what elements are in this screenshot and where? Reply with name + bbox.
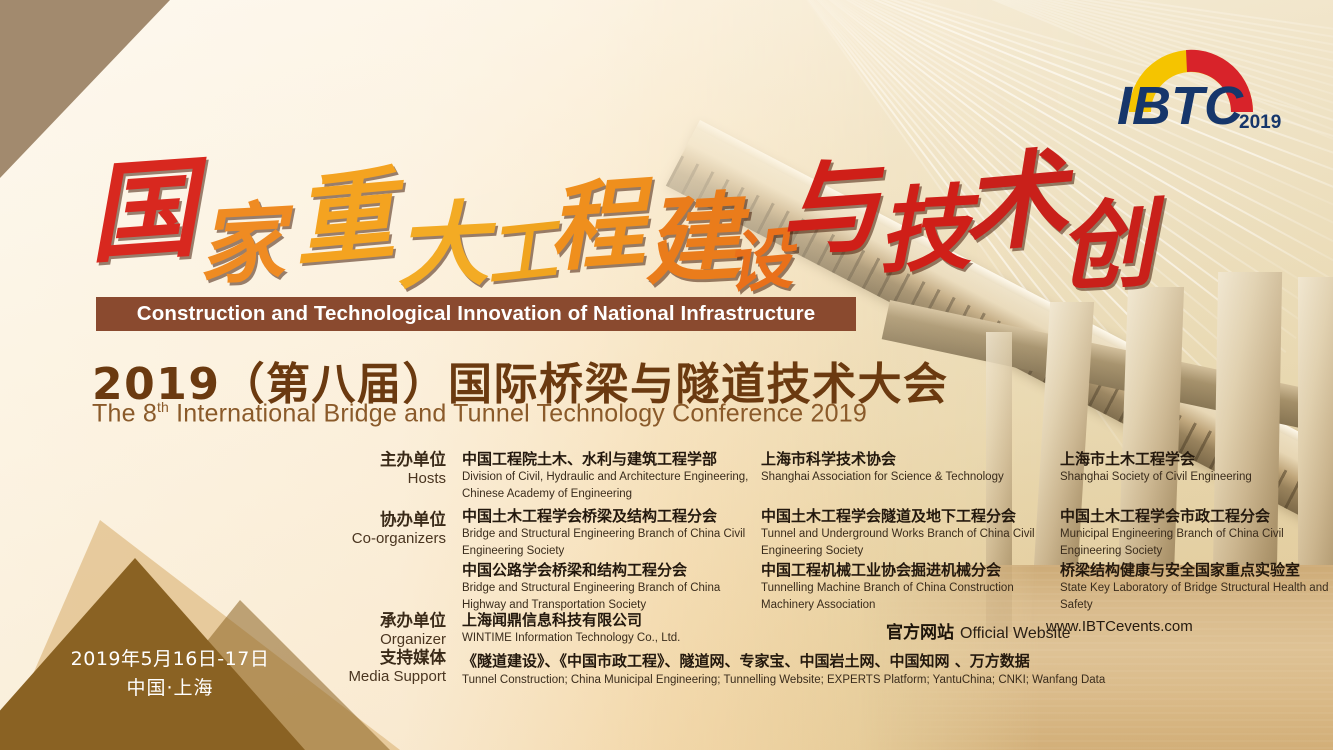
org-name-cn: 中国土木工程学会隧道及地下工程分会 bbox=[761, 506, 1061, 526]
org-name-en: Bridge and Structural Engineering Branch… bbox=[462, 526, 762, 559]
official-website[interactable]: 官方网站 Official Website www.IBTCevents.com bbox=[886, 618, 1071, 643]
org-name-en: State Key Laboratory of Bridge Structura… bbox=[1060, 580, 1333, 613]
calligraphy-char: 技 bbox=[876, 182, 973, 279]
section-co-organizers: 协办单位 Co-organizers bbox=[340, 510, 458, 549]
calligraphy-char: 与 bbox=[775, 155, 884, 264]
calligraphy-char: 术 bbox=[958, 146, 1071, 259]
media-support-list: 《隧道建设》、《中国市政工程》、隧道网、专家宝、中国岩土网、中国知网 、万方数据… bbox=[462, 650, 1105, 686]
section-label-cn: 主办单位 bbox=[340, 450, 446, 470]
section-label-cn: 承办单位 bbox=[340, 611, 446, 631]
section-label-cn: 支持媒体 bbox=[340, 648, 446, 668]
section-organizer: 承办单位 Organizer bbox=[340, 611, 458, 650]
section-label-en: Co-organizers bbox=[340, 530, 446, 549]
calligraphy-headline: 国 家 重 大 工 程 建 设 与 技 术 创 bbox=[78, 140, 998, 310]
org-entry: 中国土木工程学会市政工程分会 Municipal Engineering Bra… bbox=[1060, 506, 1333, 559]
section-label-cn: 协办单位 bbox=[340, 510, 446, 530]
section-label-en: Hosts bbox=[340, 470, 446, 489]
title-en-ordinal: th bbox=[157, 399, 169, 415]
section-label-organizer: 承办单位 Organizer bbox=[340, 611, 458, 650]
org-name-cn: 上海市科学技术协会 bbox=[761, 449, 1004, 469]
website-label-cn: 官方网站 bbox=[886, 618, 954, 643]
section-media-support: 支持媒体 Media Support bbox=[340, 648, 458, 687]
calligraphy-char: 大 bbox=[394, 198, 491, 295]
org-name-cn: 桥梁结构健康与安全国家重点实验室 bbox=[1060, 560, 1333, 580]
org-name-cn: 中国公路学会桥梁和结构工程分会 bbox=[462, 560, 762, 580]
english-subtitle-text: Construction and Technological Innovatio… bbox=[137, 302, 815, 326]
org-entry: 中国土木工程学会隧道及地下工程分会 Tunnel and Underground… bbox=[761, 506, 1061, 559]
ibtc-logo[interactable]: IBTC 2019 bbox=[1111, 24, 1291, 136]
org-entry: 上海闻鼎信息科技有限公司 WINTIME Information Technol… bbox=[462, 610, 680, 647]
conference-title-en: The 8th International Bridge and Tunnel … bbox=[92, 399, 867, 428]
section-hosts: 主办单位 Hosts bbox=[340, 450, 458, 489]
media-names-cn: 《隧道建设》、《中国市政工程》、隧道网、专家宝、中国岩土网、中国知网 、万方数据 bbox=[462, 650, 1105, 671]
section-label-hosts: 主办单位 Hosts bbox=[340, 450, 458, 489]
calligraphy-char: 创 bbox=[1056, 196, 1157, 297]
website-url[interactable]: www.IBTCevents.com bbox=[1046, 618, 1193, 635]
event-date-location: 2019年5月16日-17日 中国·上海 bbox=[60, 645, 280, 702]
calligraphy-char: 国 bbox=[84, 154, 199, 269]
org-name-cn: 中国土木工程学会市政工程分会 bbox=[1060, 506, 1333, 526]
org-name-cn: 中国工程机械工业协会掘进机械分会 bbox=[761, 560, 1061, 580]
org-entry: 中国工程院土木、水利与建筑工程学部 Division of Civil, Hyd… bbox=[462, 449, 762, 502]
english-subtitle-banner: Construction and Technological Innovatio… bbox=[96, 297, 856, 331]
org-name-en: Shanghai Association for Science & Techn… bbox=[761, 469, 1004, 485]
calligraphy-char: 家 bbox=[196, 200, 286, 290]
media-names-en: Tunnel Construction; China Municipal Eng… bbox=[462, 674, 1105, 686]
org-name-cn: 上海市土木工程学会 bbox=[1060, 449, 1252, 469]
org-entry: 桥梁结构健康与安全国家重点实验室 State Key Laboratory of… bbox=[1060, 560, 1333, 613]
org-name-en: Shanghai Society of Civil Engineering bbox=[1060, 469, 1252, 485]
event-date: 2019年5月16日-17日 bbox=[60, 645, 280, 674]
org-entry: 上海市土木工程学会 Shanghai Society of Civil Engi… bbox=[1060, 449, 1252, 486]
section-label-co-organizers: 协办单位 Co-organizers bbox=[340, 510, 458, 549]
org-name-en: Tunnelling Machine Branch of China Const… bbox=[761, 580, 1061, 613]
org-name-cn: 中国工程院土木、水利与建筑工程学部 bbox=[462, 449, 762, 469]
org-name-cn: 上海闻鼎信息科技有限公司 bbox=[462, 610, 680, 630]
org-name-cn: 中国土木工程学会桥梁及结构工程分会 bbox=[462, 506, 762, 526]
org-entry: 上海市科学技术协会 Shanghai Association for Scien… bbox=[761, 449, 1004, 486]
calligraphy-char: 程 bbox=[545, 175, 647, 277]
svg-text:2019: 2019 bbox=[1239, 112, 1281, 133]
ibtc-logo-icon: IBTC 2019 bbox=[1111, 24, 1291, 136]
org-entry: 中国公路学会桥梁和结构工程分会 Bridge and Structural En… bbox=[462, 560, 762, 613]
org-name-en: WINTIME Information Technology Co., Ltd. bbox=[462, 630, 680, 646]
event-location: 中国·上海 bbox=[60, 674, 280, 703]
org-entry: 中国工程机械工业协会掘进机械分会 Tunnelling Machine Bran… bbox=[761, 560, 1061, 613]
conference-poster: IBTC 2019 国 家 重 大 工 程 建 设 与 技 术 创 Constr… bbox=[0, 0, 1333, 750]
org-entry: 中国土木工程学会桥梁及结构工程分会 Bridge and Structural … bbox=[462, 506, 762, 559]
section-label-media-support: 支持媒体 Media Support bbox=[340, 648, 458, 687]
svg-text:IBTC: IBTC bbox=[1117, 76, 1244, 136]
org-name-en: Division of Civil, Hydraulic and Archite… bbox=[462, 469, 762, 502]
title-en-prefix: The 8 bbox=[92, 399, 157, 427]
org-name-en: Bridge and Structural Engineering Branch… bbox=[462, 580, 762, 613]
section-label-en: Organizer bbox=[340, 631, 446, 650]
calligraphy-char: 重 bbox=[290, 164, 398, 272]
section-label-en: Media Support bbox=[340, 668, 446, 687]
title-en-rest: International Bridge and Tunnel Technolo… bbox=[169, 399, 867, 427]
org-name-en: Tunnel and Underground Works Branch of C… bbox=[761, 526, 1061, 559]
org-name-en: Municipal Engineering Branch of China Ci… bbox=[1060, 526, 1333, 559]
